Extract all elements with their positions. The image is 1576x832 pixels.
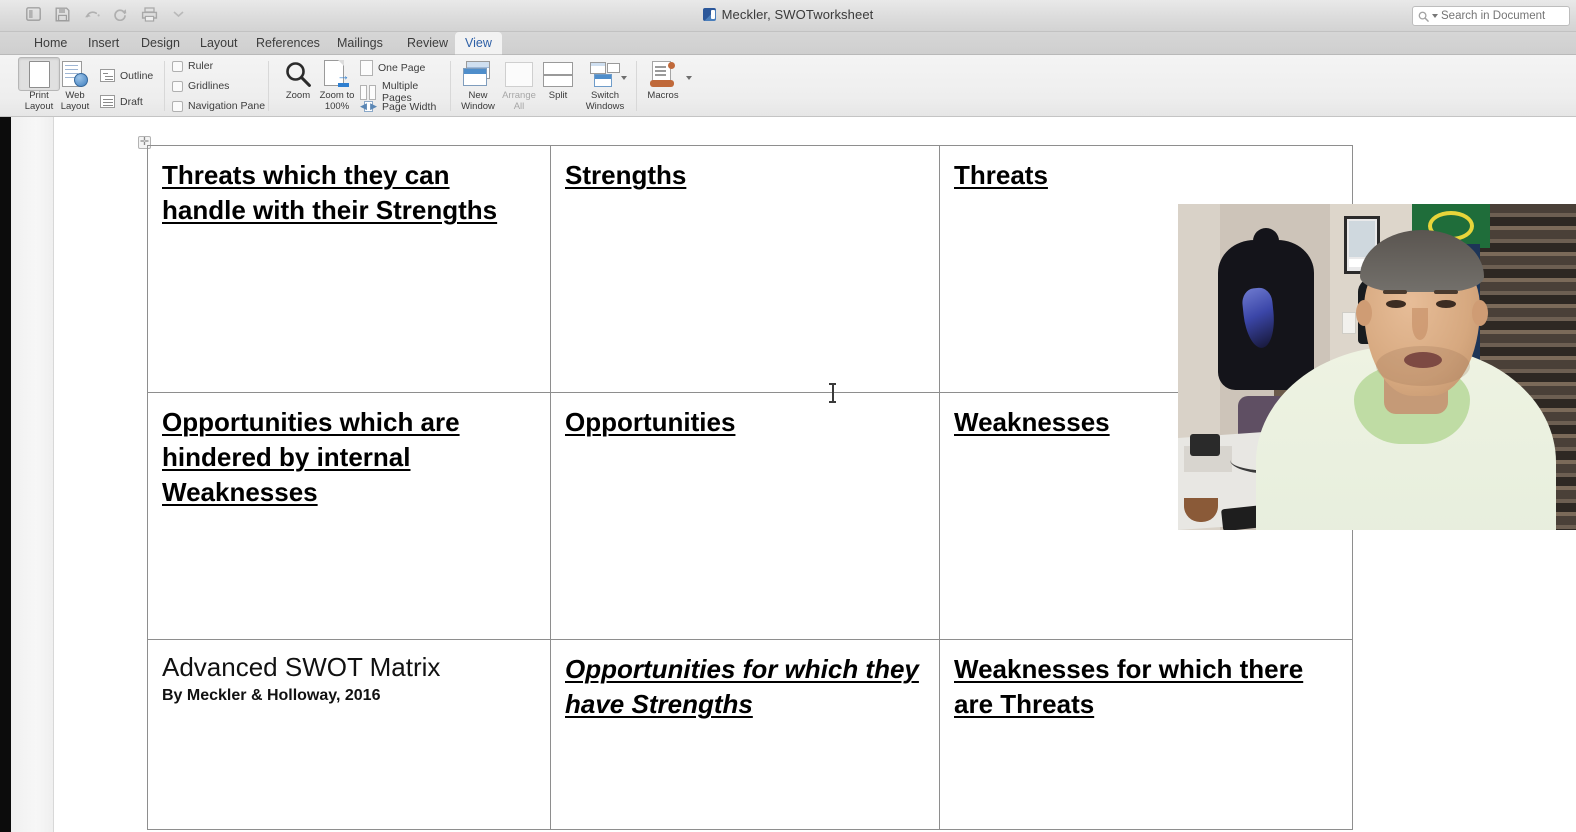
web-layout-button[interactable]: Web Layout (54, 57, 96, 112)
multiple-pages-icon (360, 85, 377, 100)
cell-opportunities-hindered-by-weaknesses[interactable]: Opportunities which are hindered by inte… (148, 393, 551, 640)
presenter-eye-right (1436, 300, 1456, 308)
table-row: Opportunities which are hindered by inte… (148, 393, 1353, 640)
ribbon-group-show: Ruler Gridlines Navigation Pane (168, 55, 268, 117)
ribbon-separator-1 (164, 61, 165, 111)
new-window-icon (457, 57, 499, 91)
matrix-byline: By Meckler & Holloway, 2016 (162, 685, 536, 707)
presenter-ear-right (1472, 300, 1488, 326)
search-scope-chevron-icon[interactable] (1432, 14, 1438, 18)
tab-view[interactable]: View (455, 32, 502, 55)
draft-button[interactable]: Draft (100, 95, 143, 108)
search-in-document[interactable] (1412, 6, 1570, 26)
new-window-label-line1: New (457, 91, 499, 102)
one-page-button[interactable]: One Page (360, 60, 425, 76)
zoom-button[interactable]: Zoom (277, 57, 319, 102)
new-window-button[interactable]: New Window (457, 57, 499, 112)
macros-chevron-down-icon[interactable] (686, 76, 692, 80)
arrange-all-button[interactable]: Arrange All (498, 57, 540, 112)
switch-windows-label-line1: Switch (578, 91, 632, 102)
navigation-pane-checkbox[interactable] (172, 101, 183, 112)
presenter-eye-left (1386, 300, 1406, 308)
zoom-to-100-label-line1: Zoom to (316, 91, 358, 102)
desk-device (1190, 434, 1220, 456)
arrange-all-label-line2: All (498, 102, 540, 113)
zoom-magnifier-icon (277, 57, 319, 91)
web-layout-label-line1: Web (54, 91, 96, 102)
cell-text: Threats which they can handle with their… (162, 160, 497, 225)
web-layout-label-line2: Layout (54, 102, 96, 113)
ribbon-view-tab-content: Print Layout Web Layout Outline (0, 55, 1576, 117)
presenter-ear-left (1356, 300, 1372, 326)
matrix-title: Advanced SWOT Matrix (162, 652, 536, 683)
cell-text: Opportunities which are hindered by inte… (162, 407, 460, 507)
word-document-icon (703, 8, 716, 21)
cell-text: Threats (954, 160, 1048, 190)
ribbon-tab-bar: Home Insert Design Layout References Mai… (0, 32, 1576, 55)
text-ibeam-cursor (829, 383, 836, 403)
wall-switch (1342, 312, 1356, 334)
new-window-label-line2: Window (457, 102, 499, 113)
presenter-nose (1412, 308, 1428, 340)
tab-layout[interactable]: Layout (190, 32, 248, 55)
tab-references[interactable]: References (246, 32, 330, 55)
switch-windows-icon (578, 57, 632, 91)
tab-review[interactable]: Review (397, 32, 458, 55)
cell-matrix-title[interactable]: Advanced SWOT Matrix By Meckler & Hollow… (148, 640, 551, 830)
table-row: Threats which they can handle with their… (148, 146, 1353, 393)
navigation-pane-label: Navigation Pane (188, 100, 265, 112)
outline-button[interactable]: Outline (100, 69, 153, 82)
switch-windows-button[interactable]: Switch Windows (578, 57, 632, 112)
cell-text: Opportunities (565, 407, 735, 437)
zoom-to-100-label-line2: 100% (316, 102, 358, 113)
navigation-pane-checkbox-row[interactable]: Navigation Pane (172, 100, 265, 112)
cell-text: Weaknesses for which there are Threats (954, 654, 1303, 719)
cell-opportunities-with-strengths[interactable]: Opportunities for which they have Streng… (551, 640, 940, 830)
cell-text: Weaknesses (954, 407, 1110, 437)
page-width-icon: ◀▶ (360, 100, 377, 113)
outline-label: Outline (120, 70, 153, 82)
switch-windows-chevron-down-icon[interactable] (621, 76, 627, 80)
ribbon-group-macros: Macros (640, 55, 710, 117)
split-icon (537, 57, 579, 91)
document-title: Meckler, SWOTworksheet (0, 7, 1576, 22)
word-application-window: Meckler, SWOTworksheet Home Insert Desig… (0, 0, 1576, 832)
window-bottom-left-edge (0, 814, 11, 832)
tab-mailings[interactable]: Mailings (327, 32, 393, 55)
tab-home[interactable]: Home (24, 32, 77, 55)
window-left-edge (0, 117, 11, 832)
gridlines-checkbox-row[interactable]: Gridlines (172, 80, 229, 92)
macros-icon (642, 57, 684, 91)
zoom-to-100-button[interactable]: → Zoom to 100% (316, 57, 358, 112)
arrange-all-icon (498, 57, 540, 91)
cell-text: Opportunities for which they have Streng… (565, 654, 919, 719)
cell-strengths[interactable]: Strengths (551, 146, 940, 393)
search-icon (1418, 11, 1429, 22)
split-label: Split (537, 91, 579, 102)
ruler-checkbox[interactable] (172, 61, 183, 72)
search-input[interactable] (1441, 10, 1564, 22)
split-button[interactable]: Split (537, 57, 579, 102)
tab-design[interactable]: Design (131, 32, 190, 55)
webcam-video-overlay[interactable] (1178, 204, 1576, 530)
zoom-label: Zoom (277, 91, 319, 102)
cell-opportunities[interactable]: Opportunities (551, 393, 940, 640)
arrange-all-label-line1: Arrange (498, 91, 540, 102)
ribbon-group-window: New Window Arrange All Split Switch Wind… (454, 55, 634, 117)
presenter-brow-right (1434, 290, 1458, 294)
swot-matrix-table[interactable]: Threats which they can handle with their… (147, 145, 1353, 830)
cell-text: Strengths (565, 160, 686, 190)
title-bar: Meckler, SWOTworksheet (0, 0, 1576, 32)
tab-insert[interactable]: Insert (78, 32, 129, 55)
page-width-label: Page Width (382, 101, 436, 113)
ribbon-group-zoom: Zoom → Zoom to 100% One Page Multiple Pa… (272, 55, 448, 117)
hanging-jacket (1218, 240, 1314, 390)
gridlines-label: Gridlines (188, 80, 229, 92)
presenter-brow-left (1383, 290, 1407, 294)
ruler-checkbox-row[interactable]: Ruler (172, 60, 213, 72)
document-left-margin-pane (11, 117, 54, 832)
draft-label: Draft (120, 96, 143, 108)
switch-windows-label-line2: Windows (578, 102, 632, 113)
table-row: Advanced SWOT Matrix By Meckler & Hollow… (148, 640, 1353, 830)
ribbon-separator-3 (450, 61, 451, 111)
draft-icon (100, 95, 115, 108)
outline-icon (100, 69, 115, 82)
document-title-text: Meckler, SWOTworksheet (722, 7, 874, 22)
page-width-button[interactable]: ◀▶ Page Width (360, 100, 436, 113)
presenter-mouth (1404, 352, 1442, 368)
ribbon-separator-2 (268, 61, 269, 111)
one-page-label: One Page (378, 62, 425, 74)
gridlines-checkbox[interactable] (172, 81, 183, 92)
ribbon-separator-4 (636, 61, 637, 111)
ribbon-group-views: Print Layout Web Layout Outline (0, 55, 160, 117)
cell-threats-handled-with-strengths[interactable]: Threats which they can handle with their… (148, 146, 551, 393)
cell-weaknesses-with-threats[interactable]: Weaknesses for which there are Threats (940, 640, 1353, 830)
web-layout-icon (54, 57, 96, 91)
one-page-icon (360, 60, 373, 76)
zoom-to-100-icon: → (316, 57, 358, 91)
macros-button[interactable]: Macros (642, 57, 684, 102)
macros-label: Macros (642, 91, 684, 102)
ruler-label: Ruler (188, 60, 213, 72)
